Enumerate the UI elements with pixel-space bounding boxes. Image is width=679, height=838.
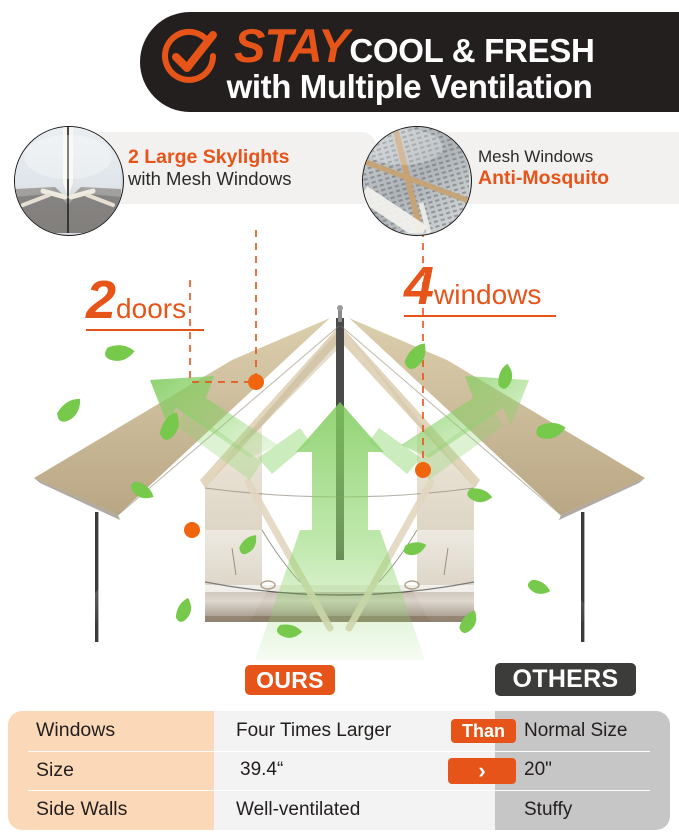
comparison-table: Windows Four Times Larger Than Normal Si… xyxy=(8,711,670,830)
marker-dot-door xyxy=(248,374,264,390)
infographic-root: STAY COOL & FRESH with Multiple Ventilat… xyxy=(0,0,679,838)
banner-headline: STAY COOL & FRESH xyxy=(234,22,595,69)
canvas-tent-illustration xyxy=(0,230,679,660)
table-mid-badge-greater: › xyxy=(448,758,516,784)
table-cell-others: 20" xyxy=(524,759,552,781)
callout-skylights-line2: with Mesh Windows xyxy=(128,168,376,190)
table-mid-badge-than: Than xyxy=(451,719,516,743)
header-banner: STAY COOL & FRESH with Multiple Ventilat… xyxy=(140,12,679,112)
skylight-photo xyxy=(14,126,124,236)
table-cell-feature: Windows xyxy=(36,719,115,742)
banner-subheadline: with Multiple Ventilation xyxy=(140,68,679,106)
banner-word-cool: COOL & FRESH xyxy=(349,34,594,67)
table-row: Size 39.4“ › 20" xyxy=(8,751,670,791)
callout-mesh-line2: Anti-Mosquito xyxy=(478,167,679,189)
table-cell-ours: 39.4“ xyxy=(240,759,283,781)
marker-dot-window-left xyxy=(184,522,200,538)
table-row: Windows Four Times Larger Than Normal Si… xyxy=(8,711,670,751)
banner-word-stay: STAY xyxy=(234,22,348,69)
badge-others: OTHERS xyxy=(495,663,636,696)
table-cell-others: Stuffy xyxy=(524,799,572,821)
badge-ours: OURS xyxy=(245,665,335,695)
table-cell-feature: Side Walls xyxy=(36,798,127,821)
table-cell-ours: Well-ventilated xyxy=(236,799,360,821)
table-cell-ours: Four Times Larger xyxy=(236,720,391,742)
table-row: Side Walls Well-ventilated Stuffy xyxy=(8,790,670,830)
table-cell-others: Normal Size xyxy=(524,720,627,742)
mesh-window-photo xyxy=(362,126,472,236)
table-cell-feature: Size xyxy=(36,759,74,782)
callout-skylights-line1: 2 Large Skylights xyxy=(128,146,376,168)
marker-dot-window-right xyxy=(415,462,431,478)
callout-mesh-line1: Mesh Windows xyxy=(478,147,679,167)
